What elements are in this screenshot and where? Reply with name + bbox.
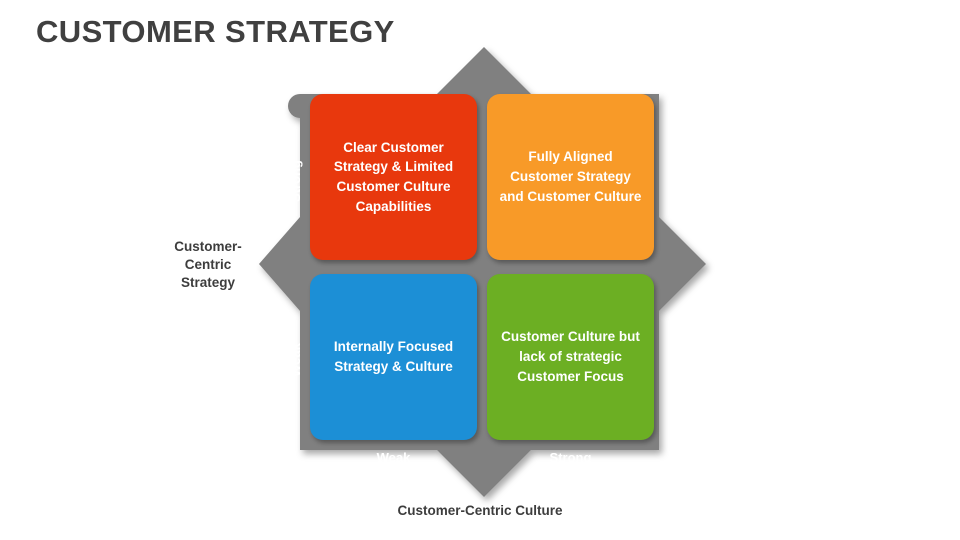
quadrant-top-left[interactable]: Clear Customer Strategy & Limited Custom… xyxy=(310,94,477,260)
y-axis-title-line-2: Centric xyxy=(152,256,264,274)
quadrant-bottom-left[interactable]: Internally Focused Strategy & Culture xyxy=(310,274,477,440)
quadrant-top-right-text: Fully Aligned Customer Strategy and Cust… xyxy=(499,147,642,206)
customer-strategy-matrix: Clear Customer Strategy & Limited Custom… xyxy=(0,0,960,540)
y-axis-title-line-3: Strategy xyxy=(152,274,264,292)
quadrant-bottom-right-text: Customer Culture but lack of strategic C… xyxy=(499,327,642,386)
y-axis-title: Customer- Centric Strategy xyxy=(152,238,264,293)
four-way-arrow-background xyxy=(0,0,960,540)
x-axis-scale-weak: Weak xyxy=(310,450,477,465)
x-axis-scale-strong: Strong xyxy=(487,450,654,465)
quadrant-top-left-text: Clear Customer Strategy & Limited Custom… xyxy=(322,138,465,217)
quadrant-bottom-right[interactable]: Customer Culture but lack of strategic C… xyxy=(487,274,654,440)
y-axis-title-line-1: Customer- xyxy=(152,238,264,256)
y-axis-scale-weak: Weak xyxy=(288,333,304,387)
quadrant-bottom-left-text: Internally Focused Strategy & Culture xyxy=(322,337,465,376)
x-axis-title: Customer-Centric Culture xyxy=(360,502,600,520)
quadrant-top-right[interactable]: Fully Aligned Customer Strategy and Cust… xyxy=(487,94,654,260)
y-axis-scale-strong: Strong xyxy=(288,154,304,208)
slide-canvas: CUSTOMER STRATEGY Clear Customer Strateg xyxy=(0,0,960,540)
